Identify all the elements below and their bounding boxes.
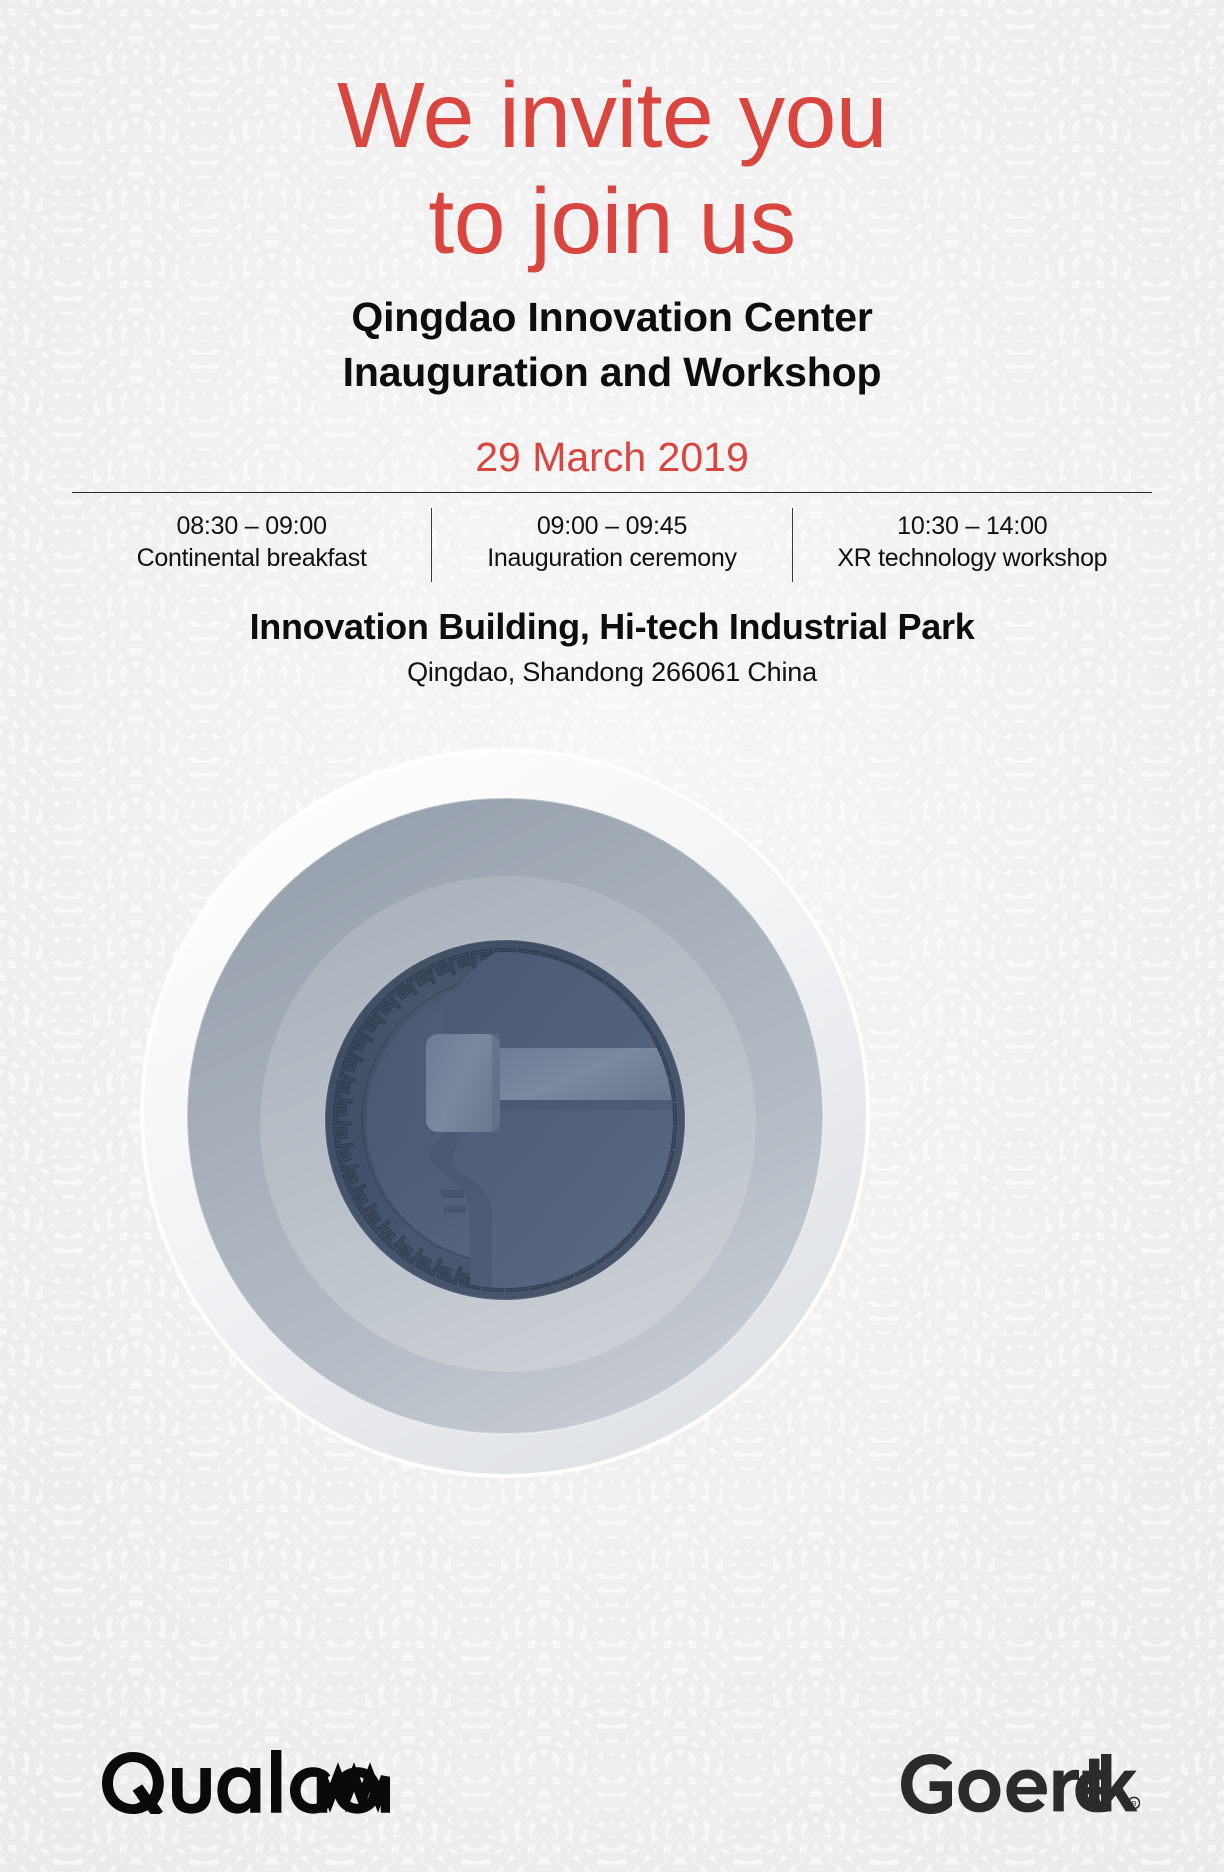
subtitle-line-1: Qingdao Innovation Center (0, 290, 1224, 345)
schedule-item-workshop: 10:30 – 14:00 XR technology workshop (792, 508, 1152, 582)
schedule-time: 08:30 – 09:00 (78, 510, 425, 542)
invitation-headline: We invite you to join us (0, 62, 1224, 274)
schedule-time: 09:00 – 09:45 (438, 510, 785, 542)
schedule-label: Continental breakfast (78, 542, 425, 574)
schedule-time: 10:30 – 14:00 (799, 510, 1146, 542)
venue-block: Innovation Building, Hi-tech Industrial … (0, 605, 1224, 692)
logo-row: R (0, 1672, 1224, 1872)
venue-name: Innovation Building, Hi-tech Industrial … (0, 605, 1224, 648)
event-subtitle: Qingdao Innovation Center Inauguration a… (0, 290, 1224, 399)
goertek-logo: R (900, 1754, 1140, 1814)
headline-line-2: to join us (0, 168, 1224, 274)
svg-text:R: R (1131, 1799, 1137, 1808)
schedule-strip: 08:30 – 09:00 Continental breakfast 09:0… (72, 492, 1152, 582)
subtitle-line-2: Inauguration and Workshop (0, 345, 1224, 400)
schedule-label: Inauguration ceremony (438, 542, 785, 574)
headline-line-1: We invite you (337, 63, 887, 167)
schedule-item-ceremony: 09:00 – 09:45 Inauguration ceremony (431, 508, 791, 582)
schedule-item-breakfast: 08:30 – 09:00 Continental breakfast (72, 508, 431, 582)
vr-headset-medallion-illustration (140, 748, 870, 1478)
schedule-label: XR technology workshop (799, 542, 1146, 574)
qualcomm-logo (100, 1750, 390, 1814)
venue-address: Qingdao, Shandong 266061 China (0, 653, 1224, 692)
invitation-poster: We invite you to join us Qingdao Innovat… (0, 0, 1224, 1872)
event-date: 29 March 2019 (0, 434, 1224, 481)
